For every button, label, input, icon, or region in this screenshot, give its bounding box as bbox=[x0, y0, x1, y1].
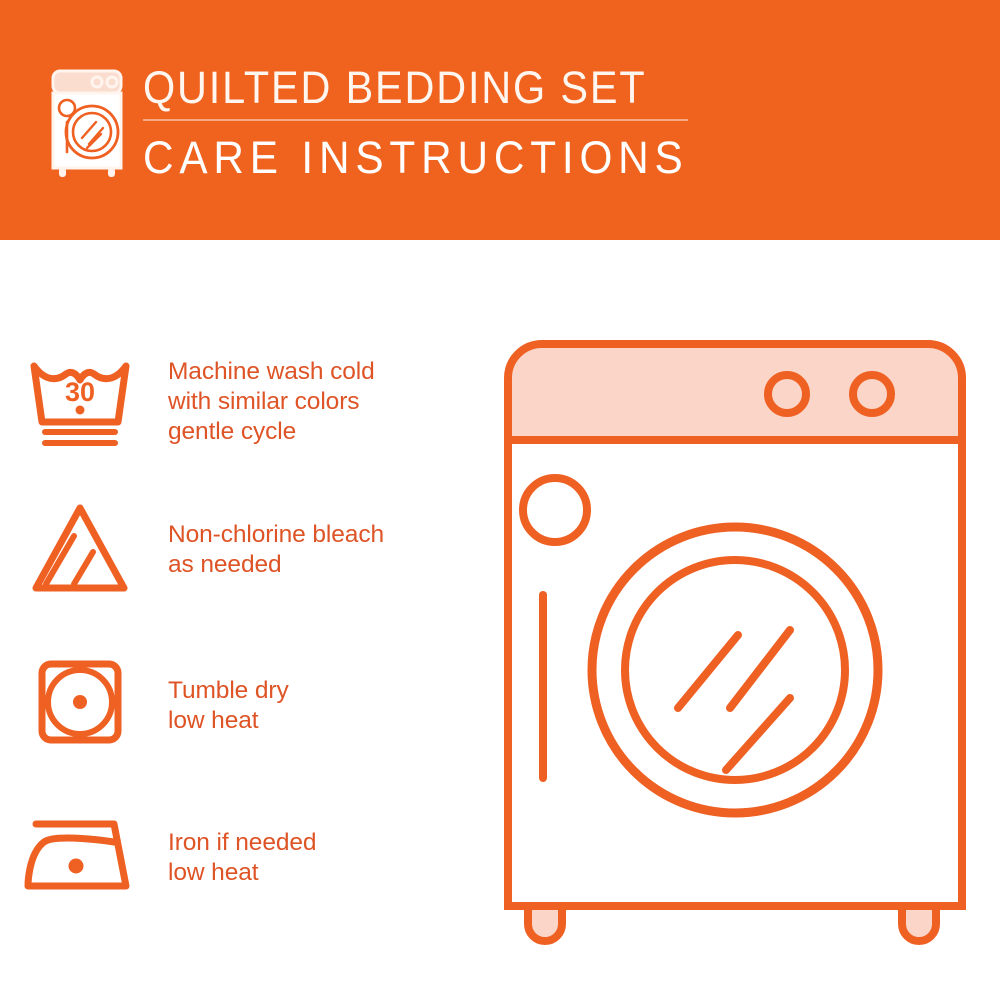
iron-low-heat-icon bbox=[0, 793, 160, 923]
machine-body bbox=[508, 440, 962, 906]
tumble-dry-low-heat-icon bbox=[0, 641, 160, 771]
page-title: QUILTED BEDDING SET bbox=[143, 62, 658, 114]
instruction-line: Non-chlorine bleach bbox=[168, 520, 384, 550]
instruction-line: as needed bbox=[168, 550, 384, 580]
wash-temperature-label: 30 bbox=[65, 377, 95, 407]
header-title-block: QUILTED BEDDING SET CARE INSTRUCTIONS bbox=[143, 62, 703, 184]
instruction-text: Non-chlorine bleach as needed bbox=[160, 520, 384, 580]
list-item: Iron if needed low heat bbox=[0, 788, 480, 928]
list-item: Tumble dry low heat bbox=[0, 636, 480, 776]
instruction-line: Machine wash cold bbox=[168, 357, 375, 387]
header-banner: QUILTED BEDDING SET CARE INSTRUCTIONS bbox=[0, 0, 1000, 240]
list-item: 30 Machine wash cold with similar colors… bbox=[0, 332, 480, 472]
washing-machine-icon bbox=[44, 68, 130, 180]
instruction-line: low heat bbox=[168, 858, 316, 888]
instruction-line: Tumble dry bbox=[168, 676, 289, 706]
instruction-line: low heat bbox=[168, 706, 289, 736]
washing-machine-illustration bbox=[490, 330, 980, 950]
leg-right bbox=[902, 906, 936, 941]
page-subtitle: CARE INSTRUCTIONS bbox=[143, 132, 669, 184]
title-divider bbox=[143, 119, 688, 121]
non-chlorine-bleach-triangle-icon bbox=[0, 485, 160, 615]
instruction-line: with similar colors bbox=[168, 387, 375, 417]
instruction-text: Tumble dry low heat bbox=[160, 676, 289, 736]
instruction-list: 30 Machine wash cold with similar colors… bbox=[0, 240, 480, 1000]
care-instructions-page: QUILTED BEDDING SET CARE INSTRUCTIONS 30… bbox=[0, 0, 1000, 1000]
instruction-text: Iron if needed low heat bbox=[160, 828, 316, 888]
wash-tub-30-gentle-icon: 30 bbox=[0, 337, 160, 467]
instruction-line: gentle cycle bbox=[168, 417, 375, 447]
instruction-text: Machine wash cold with similar colors ge… bbox=[160, 357, 375, 447]
instruction-line: Iron if needed bbox=[168, 828, 316, 858]
leg-left bbox=[528, 906, 562, 941]
list-item: Non-chlorine bleach as needed bbox=[0, 480, 480, 620]
